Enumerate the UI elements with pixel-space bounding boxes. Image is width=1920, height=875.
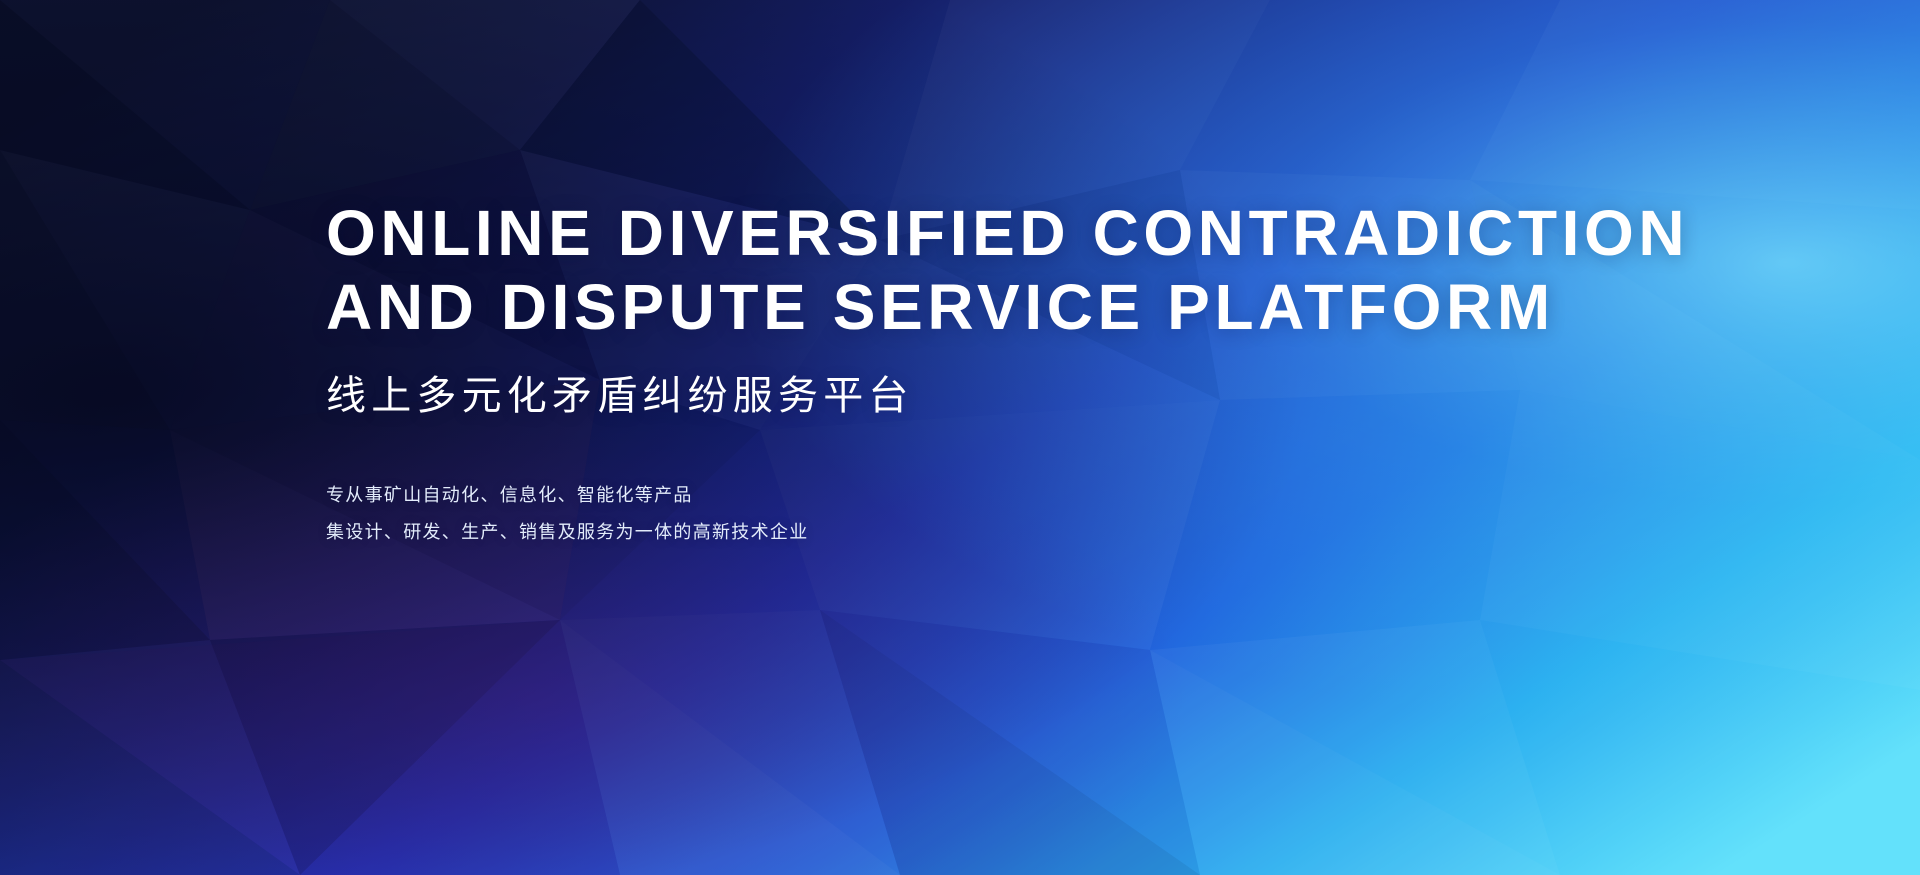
description-block: 专从事矿山自动化、信息化、智能化等产品 集设计、研发、生产、销售及服务为一体的高… — [326, 422, 1726, 551]
english-title-line-2: AND DISPUTE SERVICE PLATFORM — [326, 270, 1726, 344]
hero-text-block: ONLINE DIVERSIFIED CONTRADICTION AND DIS… — [326, 196, 1726, 551]
chinese-title: 线上多元化矛盾纠纷服务平台 — [326, 344, 1726, 422]
description-line-2: 集设计、研发、生产、销售及服务为一体的高新技术企业 — [326, 514, 1726, 551]
english-title: ONLINE DIVERSIFIED CONTRADICTION AND DIS… — [326, 196, 1726, 344]
description-line-1: 专从事矿山自动化、信息化、智能化等产品 — [326, 477, 1726, 514]
english-title-line-1: ONLINE DIVERSIFIED CONTRADICTION — [326, 196, 1726, 270]
hero-banner: ONLINE DIVERSIFIED CONTRADICTION AND DIS… — [0, 0, 1920, 875]
